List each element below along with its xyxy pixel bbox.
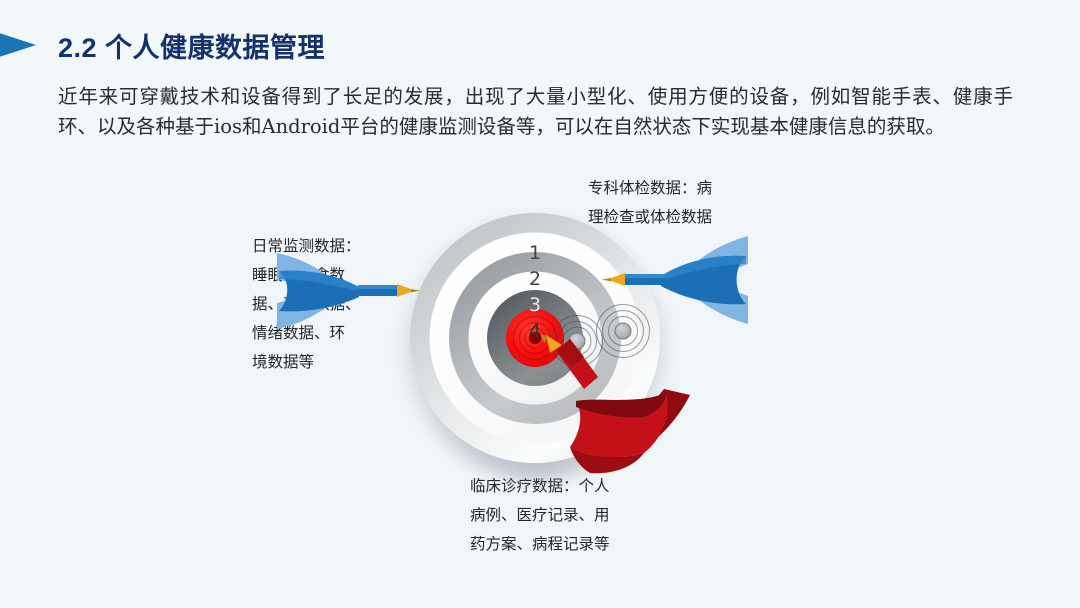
body-paragraph: 近年来可穿戴技术和设备得到了长足的发展，出现了大量小型化、使用方便的设备，例如智… [58, 82, 1013, 142]
slide-header: 2.2 个人健康数据管理 [0, 14, 1080, 60]
dart-left-blue [275, 245, 430, 337]
ring-number-3: 3 [529, 296, 541, 315]
dart-right-blue [585, 230, 750, 330]
ring-number-1: 1 [529, 244, 541, 263]
dart-bottom-red [540, 335, 710, 480]
slide-canvas: 2.2 个人健康数据管理 近年来可穿戴技术和设备得到了长足的发展，出现了大量小型… [0, 0, 1080, 608]
figure-dartboard: 日常监测数据： 睡眠、饮食数 据、运动数据、 情绪数据、环 境数据等 专科体检数… [0, 160, 1080, 608]
ring-number-2: 2 [529, 270, 541, 289]
page-title: 2.2 个人健康数据管理 [58, 26, 325, 65]
header-arrow-icon [0, 28, 36, 62]
